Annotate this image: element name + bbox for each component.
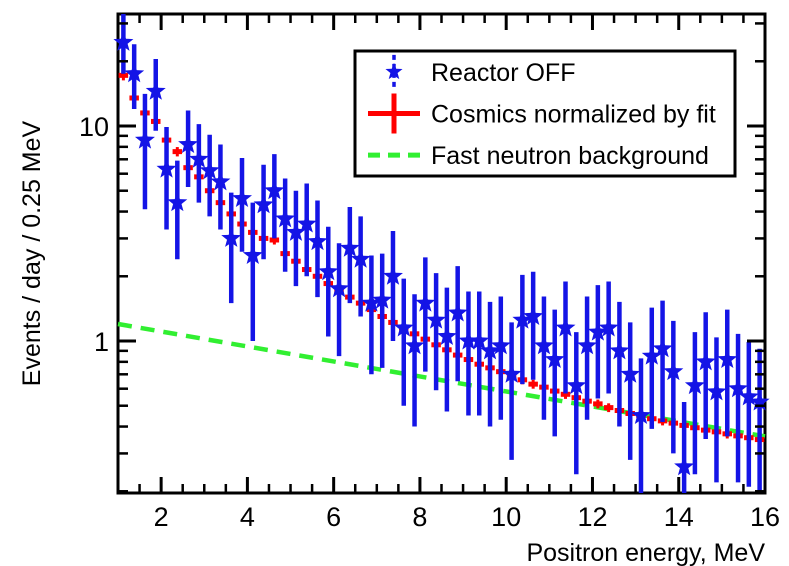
chart-figure: 246810121416110Positron energy, MeVEvent…	[0, 0, 789, 566]
y-axis-title: Events / day / 0.25 MeV	[18, 120, 46, 386]
x-tick-label: 10	[491, 502, 521, 532]
legend-label: Reactor OFF	[431, 59, 575, 87]
plot-svg: 246810121416110Positron energy, MeVEvent…	[0, 0, 789, 566]
fast-neutron-curve	[118, 324, 765, 436]
x-tick-label: 16	[750, 502, 780, 532]
x-tick-label: 6	[326, 502, 341, 532]
legend-box: Reactor OFFCosmics normalized by fitFast…	[355, 51, 735, 176]
x-tick-label: 2	[154, 502, 169, 532]
x-axis-title: Positron energy, MeV	[526, 539, 765, 566]
legend-label: Fast neutron background	[431, 142, 709, 170]
x-tick-label: 4	[240, 502, 255, 532]
x-tick-label: 14	[664, 502, 694, 532]
y-tick-label: 1	[94, 327, 109, 357]
legend-label: Cosmics normalized by fit	[431, 101, 716, 129]
x-tick-label: 12	[577, 502, 607, 532]
axis-labels: 246810121416110Positron energy, MeVEvent…	[18, 112, 780, 566]
x-tick-label: 8	[412, 502, 427, 532]
y-tick-label: 10	[79, 112, 109, 142]
